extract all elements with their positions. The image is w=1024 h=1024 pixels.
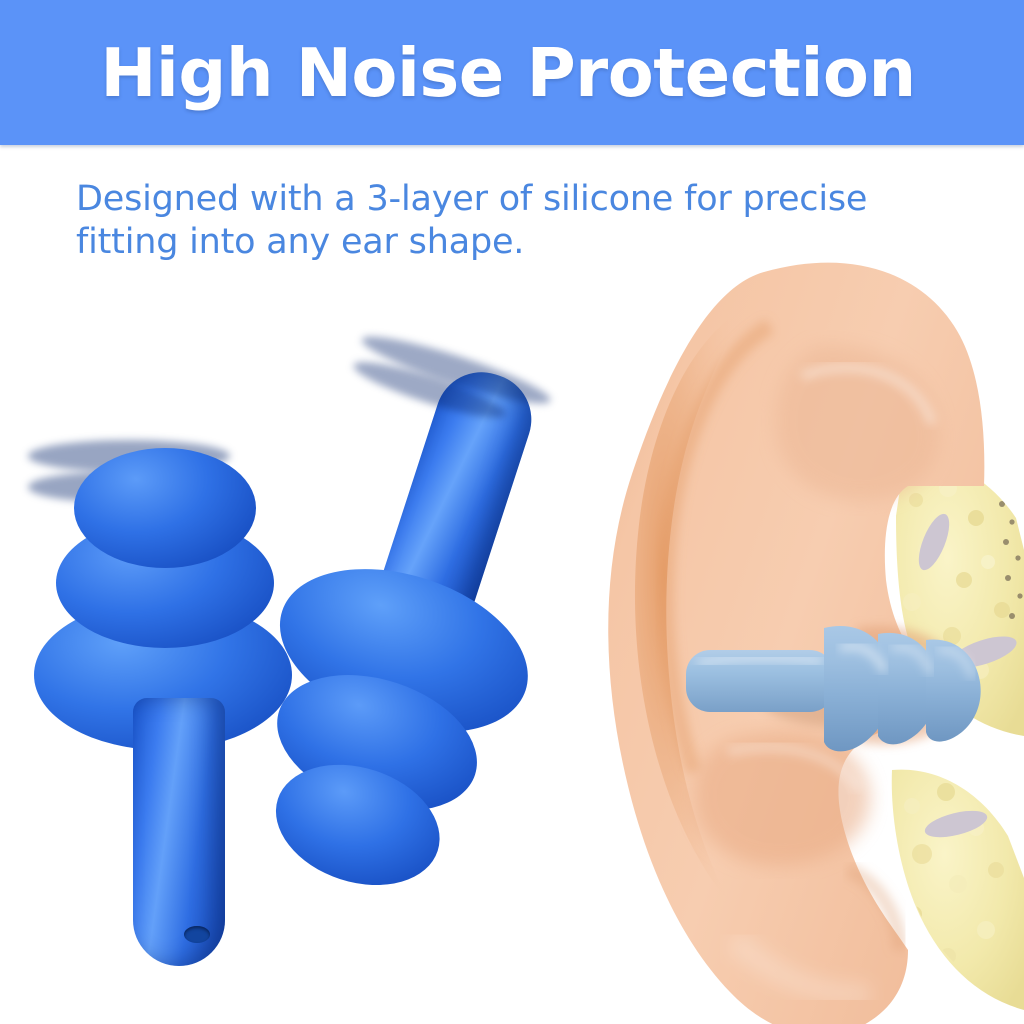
bone-tissue-lower — [892, 770, 1024, 1022]
product-infographic: High Noise Protection Designed with a 3-… — [0, 0, 1024, 1024]
earplug-flange-top — [74, 448, 256, 568]
page-title: High Noise Protection — [0, 0, 1024, 145]
ear-anatomy-illustration — [556, 250, 1024, 1024]
earplug-stem-hole — [184, 926, 210, 943]
bone-marking — [910, 966, 945, 1022]
earplug-product-group — [0, 330, 600, 970]
header-banner: High Noise Protection — [0, 0, 1024, 145]
ear-anatomy-svg — [556, 250, 1024, 1024]
